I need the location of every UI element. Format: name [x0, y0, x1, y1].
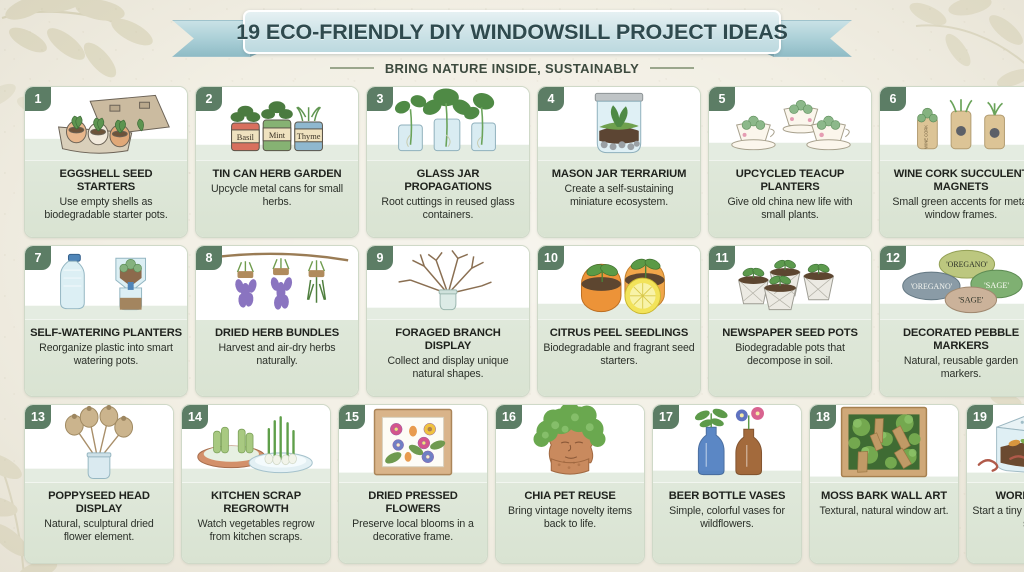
- card-title: WINE CORK SUCCULENT MAGNETS: [885, 168, 1024, 194]
- card-title: DRIED HERB BUNDLES: [215, 327, 339, 340]
- card-number-badge: 19: [967, 405, 993, 429]
- idea-card[interactable]: 18: [809, 404, 959, 564]
- card-number-badge: 5: [709, 87, 735, 111]
- card-description: Upcycle metal cans for small herbs.: [201, 183, 353, 208]
- card-number-badge: 2: [196, 87, 222, 111]
- card-description: Biodegradable pots that decompose in soi…: [714, 342, 866, 367]
- card-description: Give old china new life with small plant…: [714, 196, 866, 221]
- card-title: WORM BIN (MINI): [996, 490, 1024, 503]
- can-label-basil: Basil: [237, 133, 255, 142]
- pebble-label-oregano-1: 'OREGANO': [946, 260, 988, 269]
- card-title: CITRUS PEEL SEEDLINGS: [550, 327, 688, 340]
- idea-card[interactable]: 14: [181, 404, 331, 564]
- can-label-thyme: Thyme: [297, 132, 321, 141]
- card-text: SELF-WATERING PLANTERS Reorganize plasti…: [25, 320, 187, 396]
- pebble-label-oregano-2: 'OREGANO': [911, 282, 953, 291]
- card-row-3: 13: [24, 404, 1024, 564]
- card-number-badge: 16: [496, 405, 522, 429]
- card-title: CHIA PET REUSE: [524, 490, 615, 503]
- page-subtitle: BRING NATURE INSIDE, SUSTAINABLY: [385, 61, 639, 76]
- card-text: TIN CAN HERB GARDEN Upcycle metal cans f…: [196, 161, 358, 237]
- card-text: DRIED PRESSED FLOWERS Preserve local blo…: [339, 483, 487, 563]
- card-number-badge: 13: [25, 405, 51, 429]
- card-text: UPCYCLED TEACUP PLANTERS Give old china …: [709, 161, 871, 237]
- idea-card[interactable]: 9 FORAGED BRANCH DISPLAY: [366, 245, 530, 397]
- card-description: Use empty shells as biodegradable starte…: [30, 196, 182, 221]
- idea-card[interactable]: 3: [366, 86, 530, 238]
- idea-card-grid: 1: [24, 86, 1024, 564]
- idea-card[interactable]: 19: [966, 404, 1024, 564]
- card-title: EGGSHELL SEED STARTERS: [30, 168, 182, 194]
- card-number-badge: 11: [709, 246, 735, 270]
- card-title: GLASS JAR PROPAGATIONS: [372, 168, 524, 194]
- card-text: WORM BIN (MINI) Start a tiny indoor comp…: [967, 483, 1024, 563]
- card-number-badge: 18: [810, 405, 836, 429]
- idea-card[interactable]: 15: [338, 404, 488, 564]
- card-description: Natural, sculptural dried flower element…: [30, 518, 168, 543]
- card-title: KITCHEN SCRAP REGROWTH: [187, 490, 325, 516]
- card-text: DRIED HERB BUNDLES Harvest and air-dry h…: [196, 320, 358, 396]
- card-description: Harvest and air-dry herbs naturally.: [201, 342, 353, 367]
- card-description: Bring vintage novelty items back to life…: [501, 505, 639, 530]
- can-label-mint: Mint: [269, 131, 286, 140]
- subtitle-rule-right: [650, 67, 694, 69]
- idea-card[interactable]: 7: [24, 245, 188, 397]
- page-title: 19 ECO-FRIENDLY DIY WINDOWSILL PROJECT I…: [236, 20, 788, 45]
- card-description: Preserve local blooms in a decorative fr…: [344, 518, 482, 543]
- card-title: SELF-WATERING PLANTERS: [30, 327, 182, 340]
- card-title: NEWSPAPER SEED POTS: [722, 327, 858, 340]
- card-number-badge: 9: [367, 246, 393, 270]
- card-title: DECORATED PEBBLE MARKERS: [885, 327, 1024, 353]
- card-description: Reorganize plastic into smart watering p…: [30, 342, 182, 367]
- card-number-badge: 1: [25, 87, 51, 111]
- card-text: CHIA PET REUSE Bring vintage novelty ite…: [496, 483, 644, 563]
- card-title: MOSS BARK WALL ART: [821, 490, 947, 503]
- cork-label: WINE CORK: [923, 125, 928, 149]
- card-number-badge: 3: [367, 87, 393, 111]
- idea-card[interactable]: 4: [537, 86, 701, 238]
- card-number-badge: 8: [196, 246, 222, 270]
- idea-card[interactable]: 12 'OREGANO' 'SAGE' 'OREGANO' 'SAGE': [879, 245, 1024, 397]
- idea-card[interactable]: 10: [537, 245, 701, 397]
- card-description: Create a self-sustaining miniature ecosy…: [543, 183, 695, 208]
- card-title: MASON JAR TERRARIUM: [552, 168, 687, 181]
- card-text: BEER BOTTLE VASES Simple, colorful vases…: [653, 483, 801, 563]
- card-description: Small green accents for metal window fra…: [885, 196, 1024, 221]
- pebble-label-sage-2: 'SAGE': [958, 296, 983, 305]
- card-text: EGGSHELL SEED STARTERS Use empty shells …: [25, 161, 187, 237]
- card-description: Simple, colorful vases for wildflowers.: [658, 505, 796, 530]
- card-title: DRIED PRESSED FLOWERS: [344, 490, 482, 516]
- card-row-2: 7: [24, 245, 1024, 397]
- idea-card[interactable]: 2: [195, 86, 359, 238]
- idea-card[interactable]: 5: [708, 86, 872, 238]
- card-title: FORAGED BRANCH DISPLAY: [372, 327, 524, 353]
- card-number-badge: 15: [339, 405, 365, 429]
- card-text: GLASS JAR PROPAGATIONS Root cuttings in …: [367, 161, 529, 237]
- card-description: Natural, reusable garden markers.: [885, 355, 1024, 380]
- card-text: WINE CORK SUCCULENT MAGNETS Small green …: [880, 161, 1024, 237]
- idea-card[interactable]: 11: [708, 245, 872, 397]
- card-description: Textural, natural window art.: [820, 505, 949, 518]
- card-number-badge: 4: [538, 87, 564, 111]
- card-title: TIN CAN HERB GARDEN: [213, 168, 342, 181]
- card-text: DECORATED PEBBLE MARKERS Natural, reusab…: [880, 320, 1024, 396]
- card-number-badge: 6: [880, 87, 906, 111]
- card-description: Collect and display unique natural shape…: [372, 355, 524, 380]
- infographic-page: 19 ECO-FRIENDLY DIY WINDOWSILL PROJECT I…: [0, 0, 1024, 572]
- card-text: MASON JAR TERRARIUM Create a self-sustai…: [538, 161, 700, 237]
- card-text: MOSS BARK WALL ART Textural, natural win…: [810, 483, 958, 563]
- idea-card[interactable]: 16: [495, 404, 645, 564]
- title-banner: 19 ECO-FRIENDLY DIY WINDOWSILL PROJECT I…: [0, 6, 1024, 58]
- idea-card[interactable]: 17: [652, 404, 802, 564]
- subtitle-row: BRING NATURE INSIDE, SUSTAINABLY: [0, 58, 1024, 78]
- card-number-badge: 12: [880, 246, 906, 270]
- card-title: POPPYSEED HEAD DISPLAY: [30, 490, 168, 516]
- idea-card[interactable]: 6: [879, 86, 1024, 238]
- card-title: BEER BOTTLE VASES: [669, 490, 786, 503]
- card-description: Biodegradable and fragrant seed starters…: [543, 342, 695, 367]
- card-text: CITRUS PEEL SEEDLINGS Biodegradable and …: [538, 320, 700, 396]
- card-text: POPPYSEED HEAD DISPLAY Natural, sculptur…: [25, 483, 173, 563]
- card-text: KITCHEN SCRAP REGROWTH Watch vegetables …: [182, 483, 330, 563]
- card-text: NEWSPAPER SEED POTS Biodegradable pots t…: [709, 320, 871, 396]
- card-title: UPCYCLED TEACUP PLANTERS: [714, 168, 866, 194]
- banner-plate: 19 ECO-FRIENDLY DIY WINDOWSILL PROJECT I…: [243, 10, 781, 54]
- card-number-badge: 14: [182, 405, 208, 429]
- card-description: Watch vegetables regrow from kitchen scr…: [187, 518, 325, 543]
- idea-card[interactable]: 13: [24, 404, 174, 564]
- card-number-badge: 7: [25, 246, 51, 270]
- card-number-badge: 10: [538, 246, 564, 270]
- pebble-label-sage-1: 'SAGE': [984, 281, 1009, 290]
- idea-card[interactable]: 1: [24, 86, 188, 238]
- card-text: FORAGED BRANCH DISPLAY Collect and displ…: [367, 320, 529, 396]
- card-number-badge: 17: [653, 405, 679, 429]
- subtitle-rule-left: [330, 67, 374, 69]
- card-description: Start a tiny indoor composting system.: [972, 505, 1024, 530]
- card-description: Root cuttings in reused glass containers…: [372, 196, 524, 221]
- card-row-1: 1: [24, 86, 1024, 238]
- idea-card[interactable]: 8: [195, 245, 359, 397]
